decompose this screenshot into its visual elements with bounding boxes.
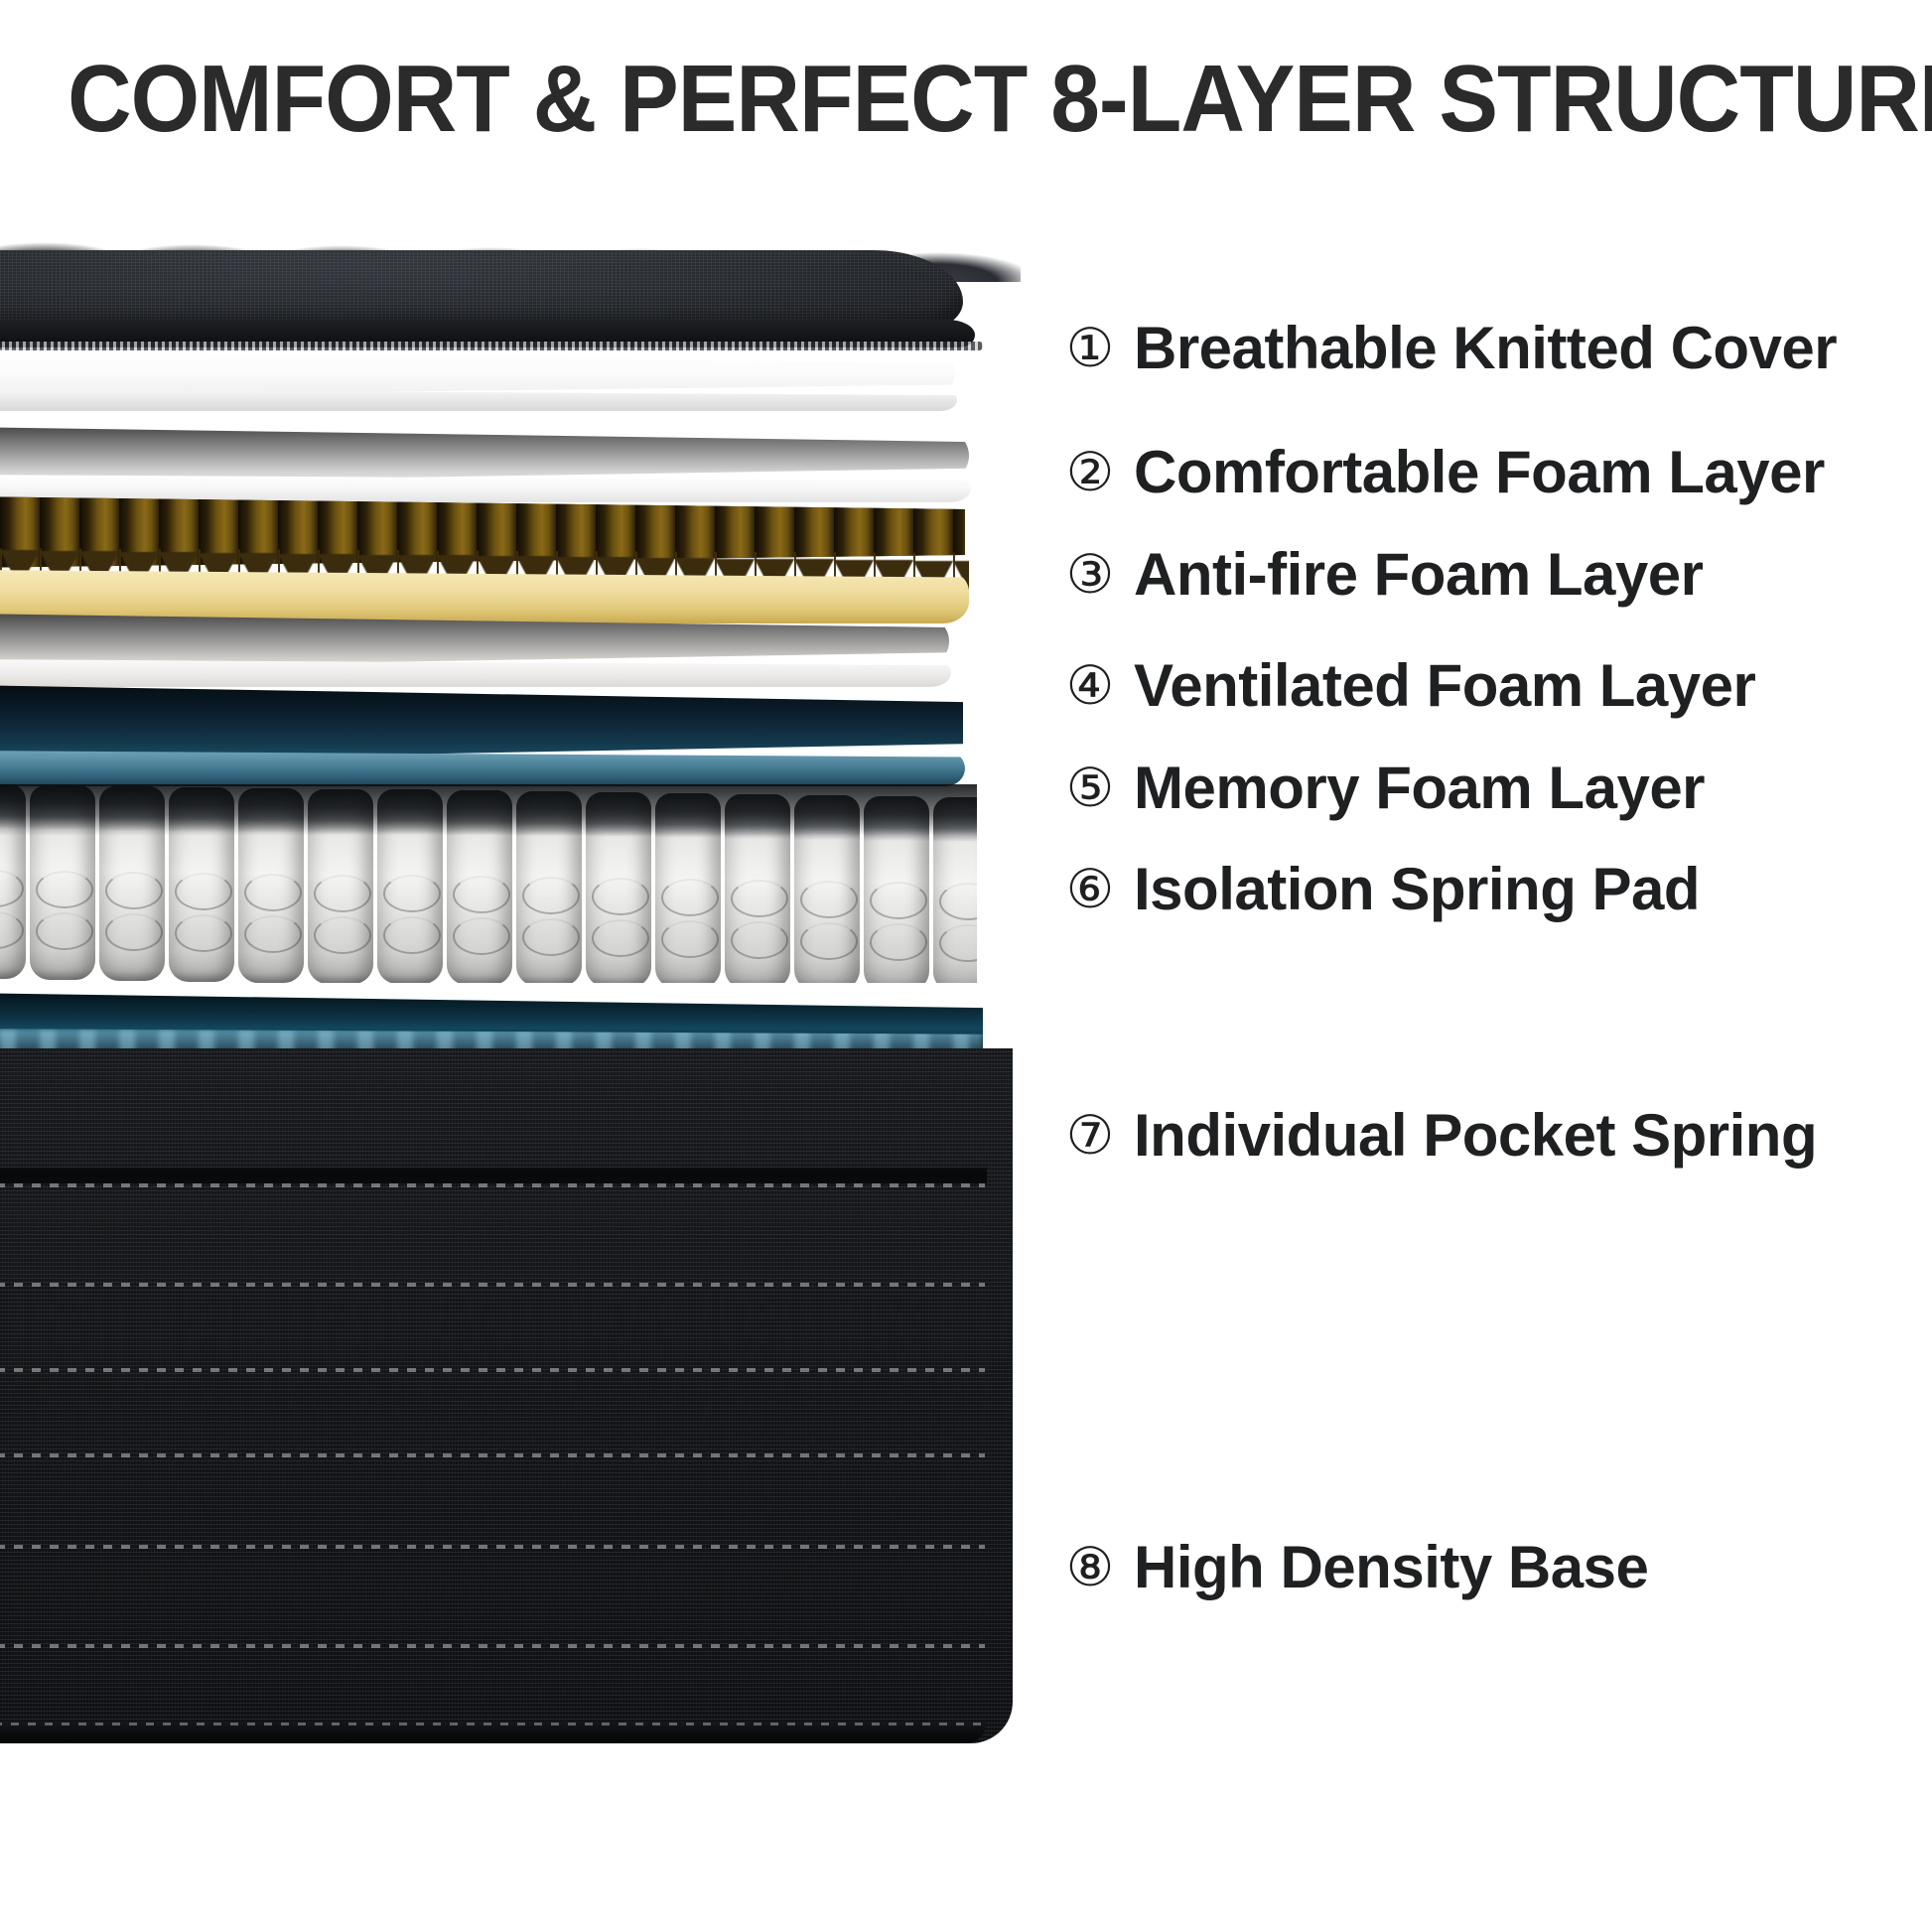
legend-label-2: Comfortable Foam Layer [1134,440,1825,505]
legend-item-anti-fire-foam-layer[interactable]: ③ Anti-fire Foam Layer [1060,542,1703,608]
legend-item-individual-pocket-spring[interactable]: ⑦ Individual Pocket Spring [1060,1103,1817,1169]
legend-item-ventilated-foam-layer[interactable]: ④ Ventilated Foam Layer [1060,653,1755,719]
legend-item-isolation-spring-pad[interactable]: ⑥ Isolation Spring Pad [1060,857,1700,922]
legend-number-7: ⑦ [1060,1106,1120,1166]
legend-label-3: Anti-fire Foam Layer [1134,542,1703,608]
legend-item-breathable-knitted-cover[interactable]: ① Breathable Knitted Cover [1060,316,1837,381]
legend-item-comfortable-foam-layer[interactable]: ② Comfortable Foam Layer [1060,440,1825,505]
legend-label-4: Ventilated Foam Layer [1134,653,1755,719]
legend-number-5: ⑤ [1060,759,1120,818]
legend-number-2: ② [1060,443,1120,502]
legend-item-memory-foam-layer[interactable]: ⑤ Memory Foam Layer [1060,756,1705,821]
legend-label-1: Breathable Knitted Cover [1134,316,1837,381]
legend-label-6: Isolation Spring Pad [1134,857,1700,922]
legend-label-7: Individual Pocket Spring [1134,1103,1817,1169]
legend-number-8: ⑧ [1060,1538,1120,1597]
legend-label-5: Memory Foam Layer [1134,756,1705,821]
legend-number-4: ④ [1060,656,1120,716]
legend-number-1: ① [1060,319,1120,378]
legend-number-6: ⑥ [1060,860,1120,919]
legend-number-3: ③ [1060,545,1120,605]
legend-label-8: High Density Base [1134,1535,1648,1600]
layer-legend: ① Breathable Knitted Cover ② Comfortable… [0,0,1932,1932]
legend-item-high-density-base[interactable]: ⑧ High Density Base [1060,1535,1648,1600]
